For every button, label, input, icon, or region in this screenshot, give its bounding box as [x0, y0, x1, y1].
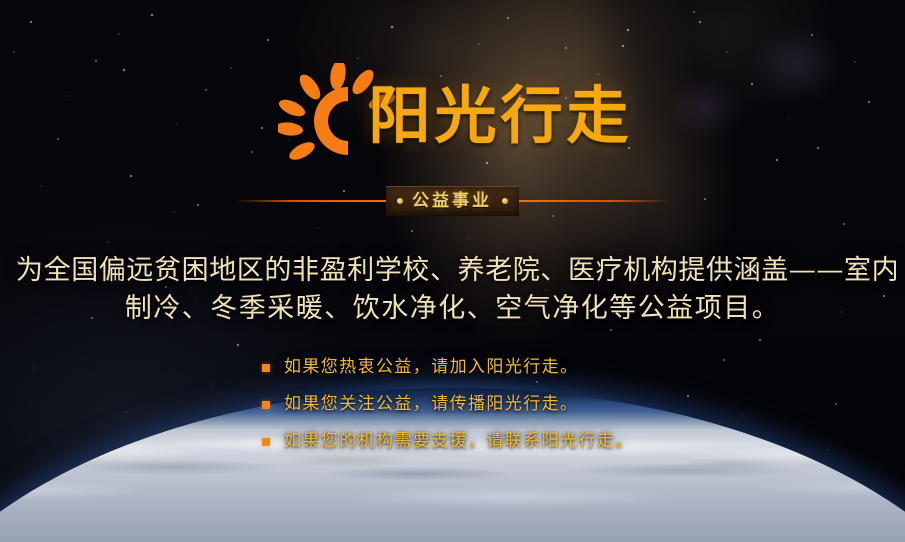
brand-logo: 阳光行走	[0, 62, 905, 174]
list-item-label: 如果您关注公益，请传播阳光行走。	[284, 393, 578, 415]
call-to-action-list: 如果您热衷公益，请加入阳光行走。 如果您关注公益，请传播阳光行走。 如果您的机构…	[0, 356, 905, 452]
square-bullet-icon	[262, 401, 270, 409]
list-item-label: 如果您的机构需要支援，请联系阳光行走。	[284, 430, 634, 452]
divider-line-left	[236, 200, 386, 202]
badge-dot-right	[502, 198, 508, 204]
badge-plaque: 公益事业	[386, 186, 519, 216]
list-item: 如果您关注公益，请传播阳光行走。	[262, 393, 578, 415]
badge-dot-left	[397, 198, 403, 204]
brand-title: 阳光行走	[368, 85, 632, 151]
square-bullet-icon	[262, 364, 270, 372]
tagline-badge: 公益事业	[0, 186, 905, 216]
divider-line-right	[519, 200, 669, 202]
list-item: 如果您的机构需要支援，请联系阳光行走。	[262, 430, 634, 452]
list-item-label: 如果您热衷公益，请加入阳光行走。	[284, 356, 578, 378]
hero-content: 阳光行走 公益事业 为全国偏远贫困地区的非盈利学校、养老院、医疗机构提供涵盖——…	[0, 0, 905, 542]
hero-banner: 阳光行走 公益事业 为全国偏远贫困地区的非盈利学校、养老院、医疗机构提供涵盖——…	[0, 0, 905, 542]
mission-statement-line-2: 制冷、冬季采暖、饮水净化、空气净化等公益项目。	[16, 290, 889, 328]
list-item: 如果您热衷公益，请加入阳光行走。	[262, 356, 578, 378]
mission-statement-line-1: 为全国偏远贫困地区的非盈利学校、养老院、医疗机构提供涵盖——室内	[16, 252, 889, 290]
mission-statement: 为全国偏远贫困地区的非盈利学校、养老院、医疗机构提供涵盖——室内 制冷、冬季采暖…	[0, 252, 905, 328]
badge-label: 公益事业	[412, 193, 493, 210]
square-bullet-icon	[262, 438, 270, 446]
